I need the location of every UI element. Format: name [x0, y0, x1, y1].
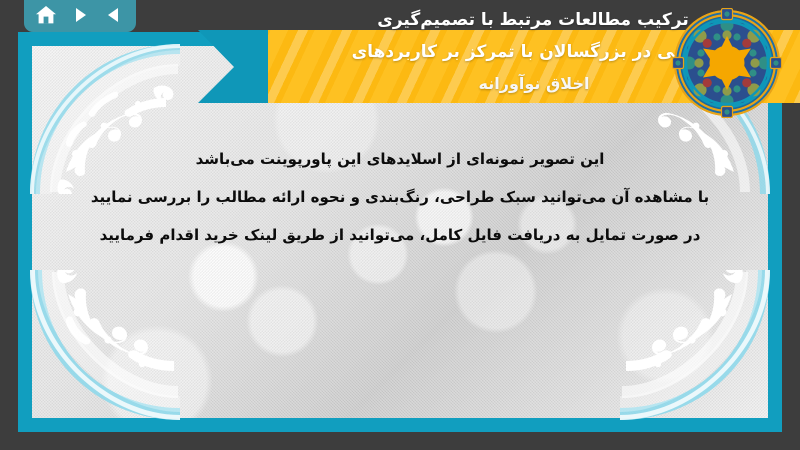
- title-band-chevron: [150, 30, 278, 103]
- home-icon: [35, 5, 57, 25]
- title-line-3: اخلاق نوآورانه: [479, 68, 590, 100]
- slide-body-text: این تصویر نمونه‌ای از اسلایدهای این پاور…: [64, 140, 736, 254]
- body-line-2: با مشاهده آن می‌توانید سبک طراحی، رنگ‌بن…: [91, 178, 709, 216]
- home-button[interactable]: [33, 3, 59, 27]
- persian-star-medallion-icon: [672, 8, 782, 118]
- slide-viewer: این تصویر نمونه‌ای از اسلایدهای این پاور…: [0, 0, 800, 450]
- body-line-1: این تصویر نمونه‌ای از اسلایدهای این پاور…: [196, 140, 605, 178]
- previous-slide-button[interactable]: [101, 3, 127, 27]
- next-slide-button[interactable]: [67, 3, 93, 27]
- triangle-left-icon: [104, 5, 124, 25]
- body-line-3: در صورت تمایل به دریافت فایل کامل، می‌تو…: [100, 216, 701, 254]
- title-line-1: ترکیب مطالعات مرتبط با تصمیم‌گیری: [377, 4, 689, 36]
- triangle-right-icon: [70, 5, 90, 25]
- slide-navigation-toolbar: [24, 0, 136, 32]
- title-line-2: اخلاقی در بزرگسالان با تمرکز بر کاربردها…: [352, 36, 717, 68]
